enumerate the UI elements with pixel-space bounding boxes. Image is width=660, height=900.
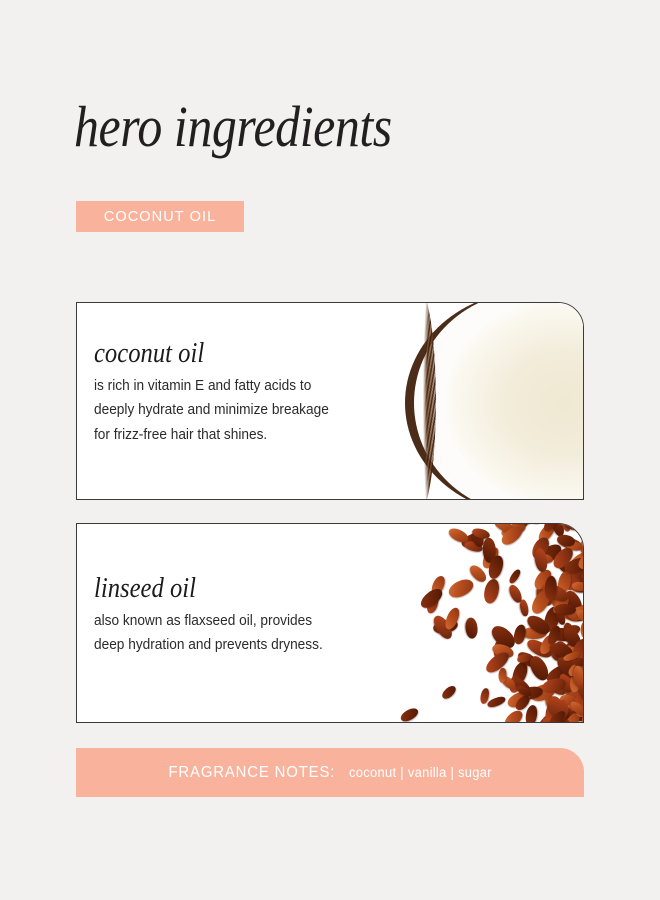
ingredient-card-text: coconut oil is rich in vitamin E and fat… <box>94 339 424 448</box>
ingredient-card-text: linseed oil also known as flaxseed oil, … <box>94 574 424 658</box>
ingredient-card-linseed-oil: linseed oil also known as flaxseed oil, … <box>76 523 584 723</box>
page-title: hero ingredients <box>74 98 392 156</box>
fragrance-notes-values: coconut | vanilla | sugar <box>349 765 492 780</box>
ingredient-description-line: deeply hydrate and minimize breakage <box>94 398 408 423</box>
ingredient-description-line: is rich in vitamin E and fatty acids to <box>94 374 408 399</box>
category-badge: COCONUT OIL <box>76 201 244 232</box>
ingredient-description: also known as flaxseed oil, provides dee… <box>94 609 408 659</box>
ingredient-name: linseed oil <box>94 574 384 604</box>
category-badge-label: COCONUT OIL <box>104 208 217 225</box>
ingredient-name: coconut oil <box>94 339 384 369</box>
ingredient-description-line: for frizz-free hair that shines. <box>94 423 408 448</box>
ingredient-description-line: deep hydration and prevents dryness. <box>94 633 408 658</box>
ingredient-card-coconut-oil: coconut oil is rich in vitamin E and fat… <box>76 302 584 500</box>
ingredient-description: is rich in vitamin E and fatty acids to … <box>94 374 408 448</box>
fragrance-notes-bar: FRAGRANCE NOTES: coconut | vanilla | sug… <box>76 748 584 797</box>
fragrance-notes-title: FRAGRANCE NOTES: <box>169 764 336 782</box>
ingredient-description-line: also known as flaxseed oil, provides <box>94 609 408 634</box>
ingredients-infographic: hero ingredients COCONUT OIL coconut oil… <box>0 0 660 900</box>
coconut-icon <box>405 303 583 499</box>
